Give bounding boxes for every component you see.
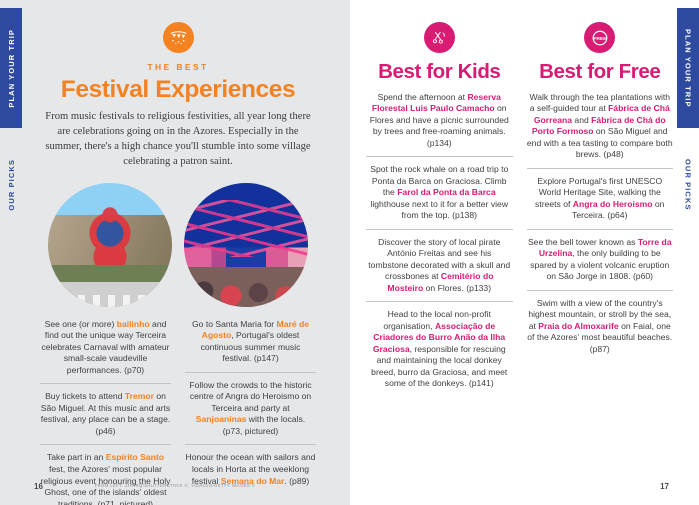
section-title: Best for Free: [527, 62, 674, 83]
page-title: Festival Experiences: [40, 77, 316, 103]
magazine-spread: PLAN YOUR TRIP OUR PICKS PLAN YOUR TRIP …: [0, 0, 699, 505]
tip-item: Buy tickets to attend Tremor on São Migu…: [40, 383, 171, 444]
thumb-tab-label: PLAN YOUR TRIP: [684, 29, 693, 108]
right-page: Best for Kids Spend the afternoon at Res…: [350, 0, 699, 505]
tip-highlight: bailinho: [117, 319, 150, 329]
tip-item: Spend the afternoon at Reserva Florestal…: [366, 90, 513, 157]
section-best-for-free: FREE Best for Free Walk through the tea …: [527, 18, 674, 397]
intro-paragraph: From music festivals to religious festiv…: [40, 109, 316, 169]
svg-text:FREE: FREE: [593, 36, 607, 42]
left-thumb-tabs: PLAN YOUR TRIP OUR PICKS: [0, 0, 22, 505]
tip-item: Swim with a view of the country's highes…: [527, 290, 674, 363]
right-thumb-tabs: PLAN YOUR TRIP OUR PICKS: [677, 0, 699, 505]
tip-item: Explore Portugal's first UNESCO World He…: [527, 168, 674, 229]
tip-item: Discover the story of local pirate Antón…: [366, 229, 513, 302]
bunting-flags-icon: [163, 22, 194, 53]
tip-highlight: Angra do Heroismo: [573, 199, 653, 209]
page-number-right: 17: [660, 482, 669, 491]
left-page: THE BEST Festival Experiences From music…: [0, 0, 350, 505]
free-badge-icon: FREE: [584, 22, 615, 53]
tip-highlight: Sanjoaninas: [196, 414, 247, 424]
eyebrow-the-best: THE BEST: [40, 62, 316, 72]
tip-item: Walk through the tea plantations with a …: [527, 90, 674, 168]
tip-item: Go to Santa Maria for Maré de Agosto, Po…: [185, 317, 316, 372]
tip-item: Spot the rock whale on a road trip to Po…: [366, 156, 513, 229]
tip-highlight: Tremor: [125, 391, 154, 401]
tip-highlight: Espírito Santo: [106, 452, 164, 462]
tip-item: Take part in an Espírito Santo fest, the…: [40, 444, 171, 505]
tip-item: See the bell tower known as Torre da Urz…: [527, 229, 674, 290]
tip-item: See one (or more) bailinho and find out …: [40, 317, 171, 384]
thumb-tab-our-picks-right[interactable]: OUR PICKS: [677, 130, 699, 240]
thumb-tab-label: OUR PICKS: [7, 159, 16, 211]
tips-columns: See one (or more) bailinho and find out …: [40, 317, 316, 505]
tip-highlight: Praia do Almoxarife: [538, 321, 618, 331]
tips-column-right: Go to Santa Maria for Maré de Agosto, Po…: [185, 317, 316, 505]
tip-item: Head to the local non-profit organisatio…: [366, 301, 513, 397]
thumb-tab-plan-your-trip-left[interactable]: PLAN YOUR TRIP: [0, 8, 22, 128]
kids-scissors-craft-icon: [424, 22, 455, 53]
thumb-tab-label: PLAN YOUR TRIP: [7, 29, 16, 108]
photo-festival-street-decoration: [48, 183, 172, 307]
photo-festival-crowd-street: [184, 183, 308, 307]
section-title: Best for Kids: [366, 62, 513, 83]
section-best-for-kids: Best for Kids Spend the afternoon at Res…: [366, 18, 513, 397]
thumb-tab-our-picks-left[interactable]: OUR PICKS: [0, 130, 22, 240]
thumb-tab-label: OUR PICKS: [684, 159, 693, 211]
photo-group: [40, 183, 316, 307]
tip-highlight: Farol da Ponta da Barca: [397, 187, 495, 197]
photo-credit: FROM LEFT: JJFARQ/SHUTTERSTOCK ©, VIDALG…: [0, 483, 350, 488]
tip-item: Follow the crowds to the historic centre…: [185, 372, 316, 445]
thumb-tab-plan-your-trip-right[interactable]: PLAN YOUR TRIP: [677, 8, 699, 128]
tips-column-left: See one (or more) bailinho and find out …: [40, 317, 171, 505]
